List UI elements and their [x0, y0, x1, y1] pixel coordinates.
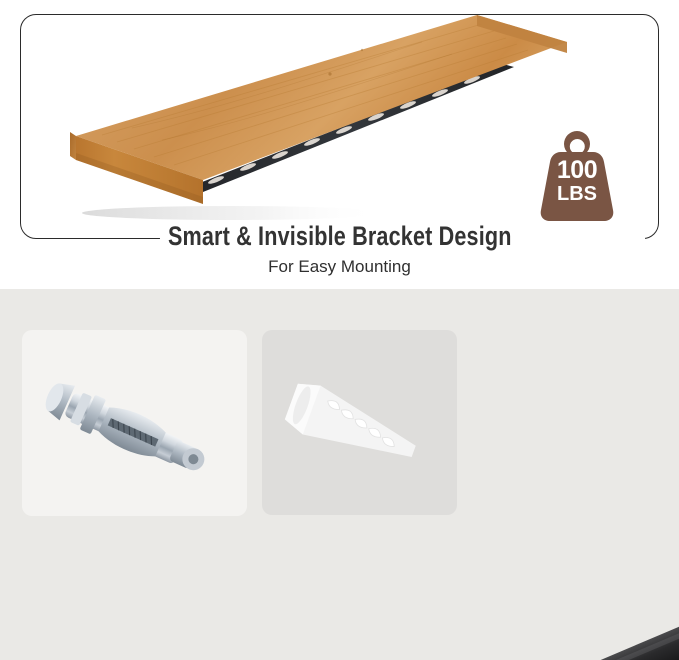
shelf-illustration: [62, 8, 582, 223]
plastic-wall-plug-icon: [268, 379, 448, 479]
headline-row: Smart & Invisible Bracket Design: [0, 221, 679, 251]
weight-badge-icon: [531, 128, 623, 223]
page-subtitle: For Easy Mounting: [0, 256, 679, 278]
bottom-panel: Upgrade Metal Anchors heavy-duty Made of…: [0, 289, 679, 660]
infographic-page: 100 LBS Smart & Invisible Bracket Design…: [0, 0, 679, 660]
floating-wood-shelf-icon: [62, 8, 582, 223]
metal-expansion-anchor-icon: [28, 369, 228, 489]
page-title: Smart & Invisible Bracket Design: [160, 221, 520, 251]
weight-capacity-badge: 100 LBS: [531, 128, 623, 223]
black-iron-rod-icon: [355, 579, 679, 660]
top-panel: 100 LBS Smart & Invisible Bracket Design…: [0, 0, 679, 289]
